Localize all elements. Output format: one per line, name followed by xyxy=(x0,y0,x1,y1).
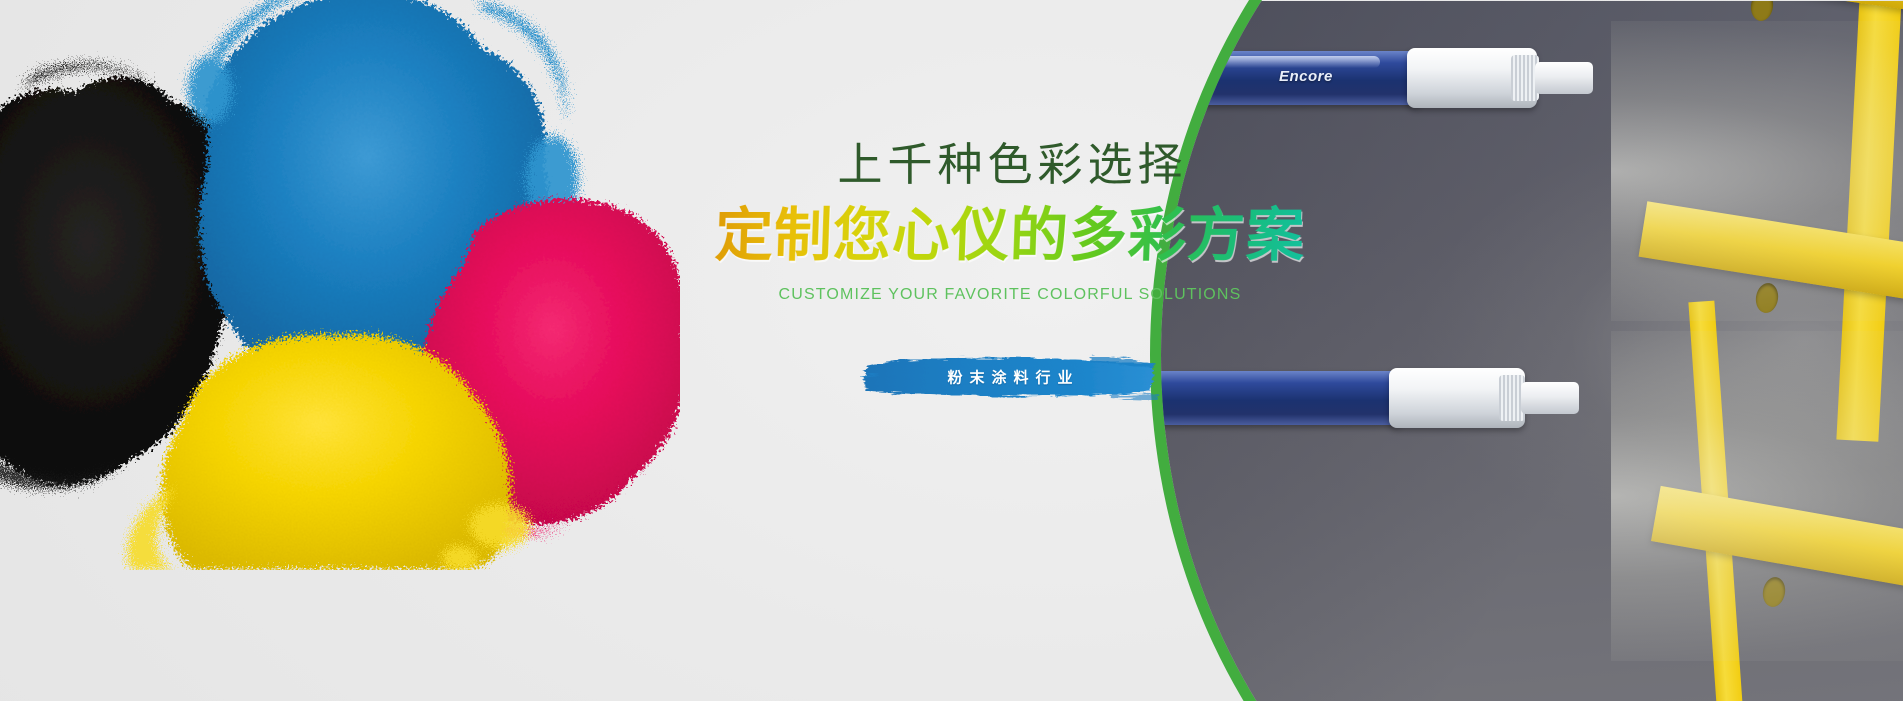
industry-badge: 粉末涂料行业 xyxy=(860,350,1160,404)
gun-nozzle-tip xyxy=(1521,382,1579,414)
yellow-powder-pile xyxy=(162,334,511,570)
subtitle-english: CUSTOMIZE YOUR FAVORITE COLORFUL SOLUTIO… xyxy=(660,286,1360,304)
headline-primary: 上千种色彩选择 xyxy=(660,140,1360,190)
black-powder-dust xyxy=(0,64,150,489)
black-powder-pile xyxy=(0,77,244,485)
magenta-powder-pile xyxy=(419,199,680,524)
cyan-powder-pile xyxy=(199,0,548,384)
powder-coating-hero-banner: Encore 上千种色彩选择 定制您心仪的多彩方案 CUSTOMIZE YOUR… xyxy=(0,0,1903,701)
yellow-powder-dust xyxy=(127,488,530,570)
gun-nozzle-tip xyxy=(1535,62,1593,94)
magenta-powder-dust xyxy=(422,408,566,535)
cmyk-powder-photo xyxy=(0,0,680,570)
gun-highlight xyxy=(1150,56,1380,68)
gun-brand-label: Encore xyxy=(1279,68,1333,85)
spray-gun-top: Encore xyxy=(1150,51,1651,105)
industry-badge-label: 粉末涂料行业 xyxy=(860,367,1160,388)
banner-text-block: 上千种色彩选择 定制您心仪的多彩方案 CUSTOMIZE YOUR FAVORI… xyxy=(660,140,1360,404)
headline-secondary: 定制您心仪的多彩方案 xyxy=(659,204,1361,268)
cyan-powder-splatter xyxy=(188,0,578,224)
